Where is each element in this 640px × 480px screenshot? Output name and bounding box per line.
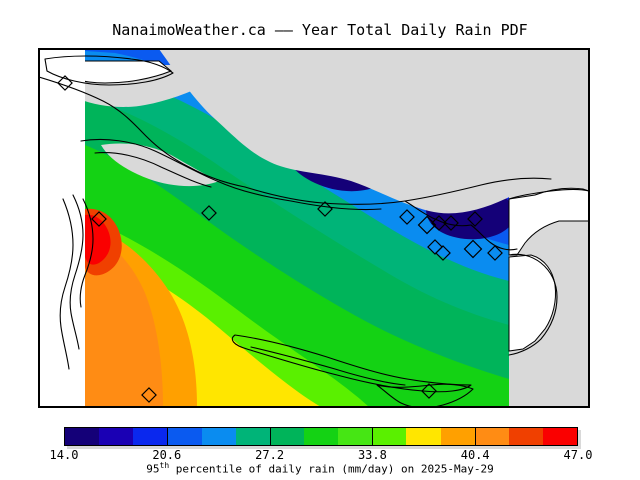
caption-rest: percentile of daily rain (mm/day) on 202… [169,463,494,476]
colorbar-band-6 [270,428,304,445]
map-frame [38,48,590,408]
contour-map [39,49,589,407]
colorbar-tick-labels: 14.020.627.233.840.447.0 [0,448,640,462]
colorbar-label-0: 14.0 [50,448,79,462]
colorbar-band-11 [441,428,475,445]
colorbar-band-7 [304,428,338,445]
colorbar-bands [64,427,578,446]
colorbar-band-14 [543,428,577,445]
page-title: NanaimoWeather.ca —— Year Total Daily Ra… [0,21,640,39]
colorbar [64,427,578,446]
colorbar-label-2: 27.2 [255,448,284,462]
colorbar-label-5: 47.0 [564,448,593,462]
colorbar-caption: 95th percentile of daily rain (mm/day) o… [0,461,640,476]
colorbar-label-4: 40.4 [461,448,490,462]
weather-map-page: NanaimoWeather.ca —— Year Total Daily Ra… [0,0,640,480]
caption-percentile-suffix: th [160,461,170,470]
colorbar-label-1: 20.6 [152,448,181,462]
colorbar-band-1 [99,428,133,445]
colorbar-band-9 [372,428,406,445]
colorbar-band-8 [338,428,372,445]
colorbar-band-0 [65,428,99,445]
caption-percentile-number: 95 [146,463,159,476]
colorbar-band-10 [406,428,440,445]
colorbar-band-12 [475,428,509,445]
colorbar-band-4 [202,428,236,445]
colorbar-band-5 [236,428,270,445]
colorbar-band-3 [167,428,201,445]
colorbar-band-2 [133,428,167,445]
colorbar-label-3: 33.8 [358,448,387,462]
colorbar-band-13 [509,428,543,445]
